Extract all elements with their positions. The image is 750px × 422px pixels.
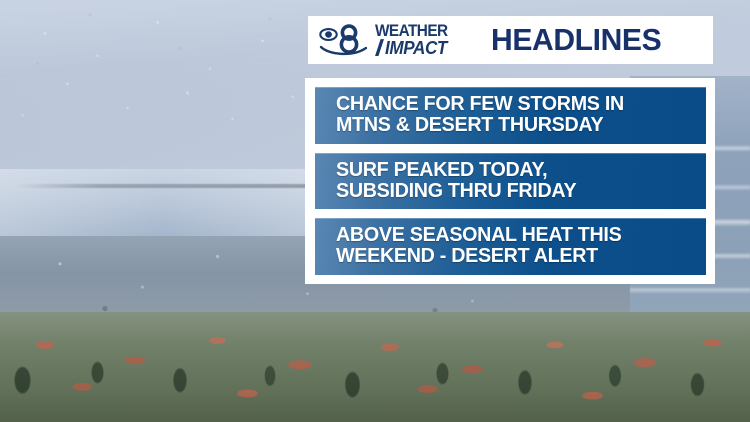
graphic-header-bar: WEATHER IMPACT HEADLINES xyxy=(308,16,713,64)
headline-text-2: SURF PEAKED TODAY, SUBSIDING THRU FRIDAY xyxy=(336,160,576,202)
slash-icon xyxy=(375,39,384,56)
headline-text-1: CHANCE FOR FEW STORMS IN MTNS & DESERT T… xyxy=(336,94,624,136)
headline-panel: CHANCE FOR FEW STORMS IN MTNS & DESERT T… xyxy=(305,78,715,284)
brand-impact-row: IMPACT xyxy=(375,39,453,56)
headline-item-2: SURF PEAKED TODAY, SUBSIDING THRU FRIDAY xyxy=(315,153,706,210)
headline-item-3: ABOVE SEASONAL HEAT THIS WEEKEND - DESER… xyxy=(315,218,706,275)
headline-text-3: ABOVE SEASONAL HEAT THIS WEEKEND - DESER… xyxy=(336,225,621,267)
weather-impact-wordmark: WEATHER IMPACT xyxy=(375,24,453,56)
brand-impact-text: IMPACT xyxy=(385,40,447,57)
station-brand-lockup: WEATHER IMPACT xyxy=(319,23,453,57)
page-title: HEADLINES xyxy=(491,22,661,58)
cbs-8-eye-logo xyxy=(319,23,369,57)
weather-graphic-screen: WEATHER IMPACT HEADLINES CHANCE FOR FEW … xyxy=(0,0,750,422)
headline-item-1: CHANCE FOR FEW STORMS IN MTNS & DESERT T… xyxy=(315,87,706,144)
